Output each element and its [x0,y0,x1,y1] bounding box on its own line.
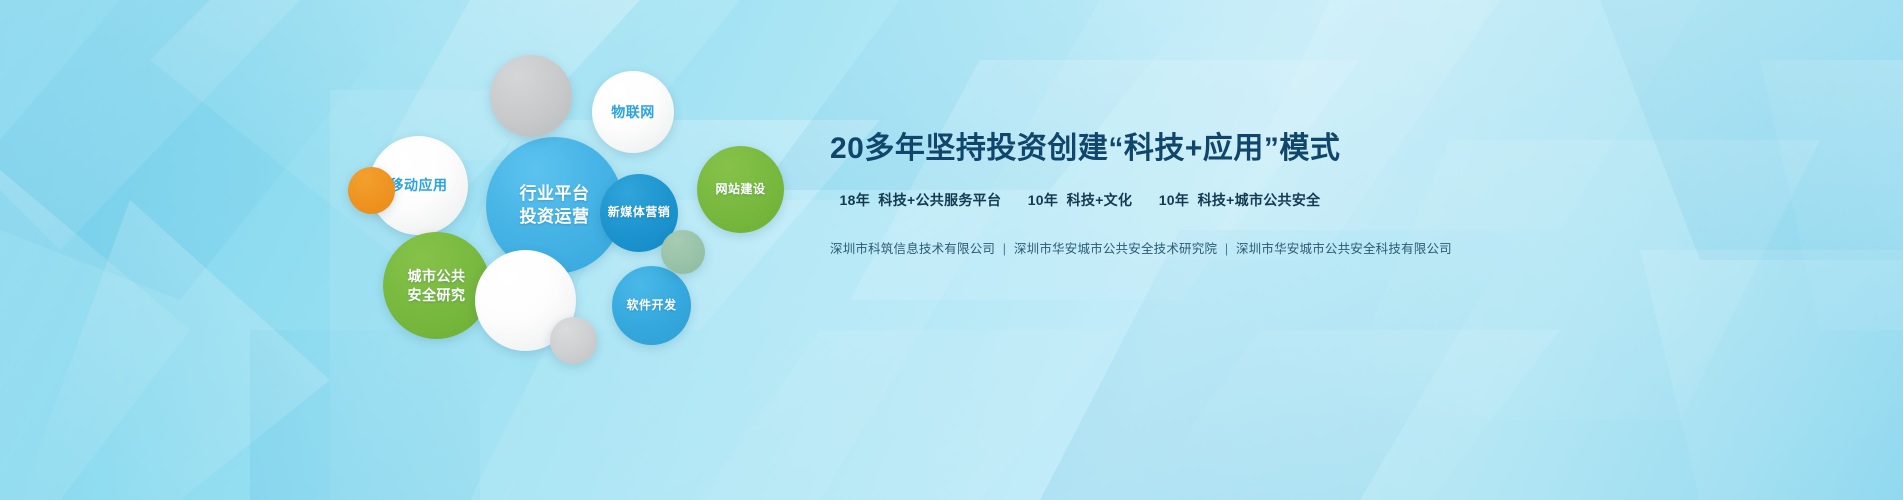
banner-copy: 20多年坚持投资创建“科技+应用”模式 18年 科技+公共服务平台 10年 科技… [830,130,1330,257]
stat-2-field: 科技+文化 [1067,192,1133,208]
stat-2-years: 10年 [1028,192,1058,208]
bubble-public-safety[interactable]: 城市公共 安全研究 [383,232,490,339]
headline: 20多年坚持投资创建“科技+应用”模式 [830,130,1330,168]
bubble-label-new-media: 新媒体营销 [608,205,671,221]
company-3: 深圳市华安城市公共安全科技有限公司 [1236,242,1452,256]
bubble-label-core: 行业平台 投资运营 [520,183,590,228]
stat-1-years: 18年 [840,192,870,208]
bubble-deco-gray-top [490,55,572,137]
stat-3-years: 10年 [1159,192,1189,208]
bubble-deco-gray-btm [550,317,597,364]
bubble-label-mobile-app: 移动应用 [390,176,448,194]
bubble-label-website: 网站建设 [715,182,765,198]
bubble-iot[interactable]: 物联网 [592,71,674,153]
bubble-label-iot: 物联网 [611,103,655,121]
bubble-label-public-safety: 城市公共 安全研究 [408,267,466,304]
bubble-deco-sage [661,230,705,274]
stat-1-field: 科技+公共服务平台 [878,192,1001,208]
company-separator-2: | [1221,242,1232,256]
bubble-deco-orange [348,167,395,214]
bubble-software-dev[interactable]: 软件开发 [612,266,691,345]
company-separator-1: | [999,242,1010,256]
bubble-label-software-dev: 软件开发 [626,298,676,314]
stat-3-field: 科技+城市公共安全 [1198,192,1321,208]
bubble-cluster-graphic: 行业平台 投资运营移动应用物联网新媒体营销网站建设城市公共 安全研究软件开发 [300,30,840,430]
bubble-website[interactable]: 网站建设 [697,146,784,233]
company-2: 深圳市华安城市公共安全技术研究院 [1014,242,1217,256]
company-list: 深圳市科筑信息技术有限公司 | 深圳市华安城市公共安全技术研究院 | 深圳市华安… [830,238,1330,257]
stats-line: 18年 科技+公共服务平台 10年 科技+文化 10年 科技+城市公共安全 [830,190,1330,210]
company-1: 深圳市科筑信息技术有限公司 [830,242,995,256]
promo-banner: 行业平台 投资运营移动应用物联网新媒体营销网站建设城市公共 安全研究软件开发 2… [0,0,1903,500]
